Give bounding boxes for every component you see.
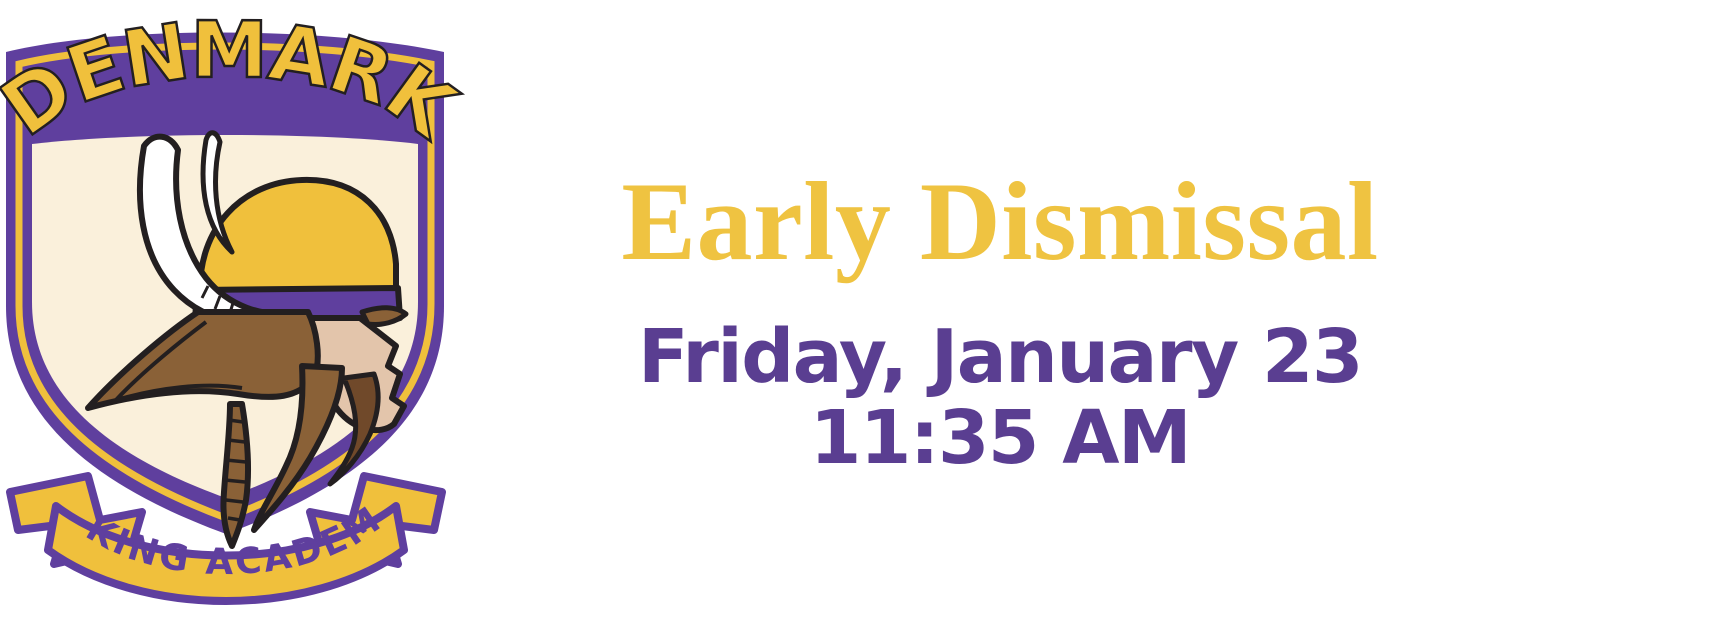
announcement-banner: DENMARK	[0, 0, 1728, 640]
school-logo: DENMARK	[0, 6, 472, 606]
event-date: Friday, January 23	[638, 318, 1362, 396]
page-title: Early Dismissal	[621, 166, 1378, 278]
message-block: Early Dismissal Friday, January 23 11:35…	[470, 0, 1530, 640]
event-time: 11:35 AM	[810, 397, 1190, 480]
